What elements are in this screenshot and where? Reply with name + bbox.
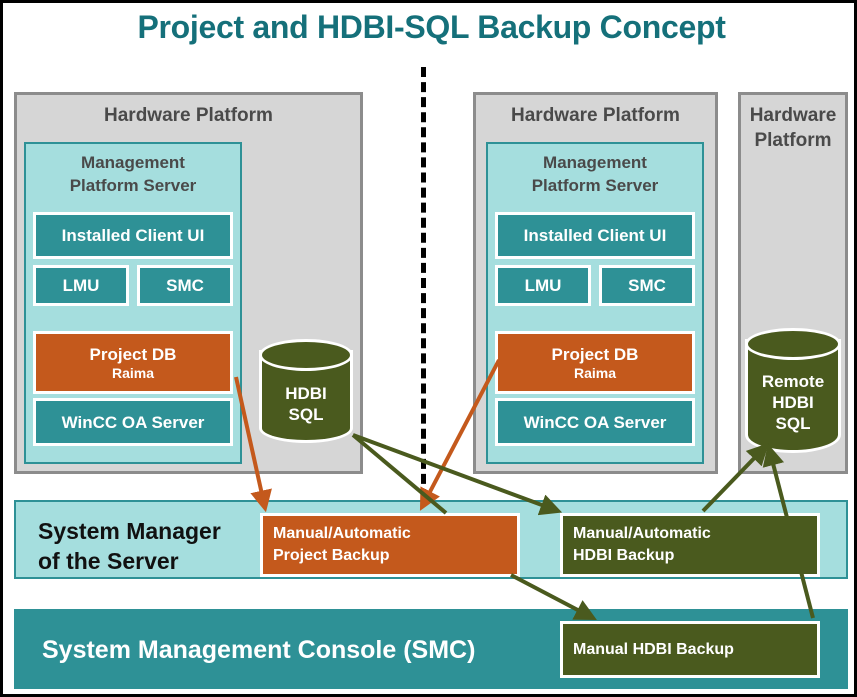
vertical-divider <box>421 67 426 499</box>
hardware-platform-middle-title: Hardware Platform <box>476 103 715 128</box>
system-manager-label: System Manager of the Server <box>38 516 268 576</box>
manual-automatic-hdbi-backup-box[interactable]: Manual/Automatic HDBI Backup <box>560 513 820 577</box>
smc-left[interactable]: SMC <box>137 265 233 306</box>
system-management-console-label: System Management Console (SMC) <box>42 635 475 665</box>
management-platform-server-left-title: Management Platform Server <box>26 151 240 197</box>
manual-automatic-project-backup-box[interactable]: Manual/Automatic Project Backup <box>260 513 520 577</box>
project-db-middle[interactable]: Project DB Raima <box>495 331 695 394</box>
manual-hdbi-backup-box[interactable]: Manual HDBI Backup <box>560 621 820 678</box>
smc-middle[interactable]: SMC <box>599 265 695 306</box>
wincc-oa-server-left[interactable]: WinCC OA Server <box>33 398 233 446</box>
cylinder-top <box>259 339 353 371</box>
hardware-platform-right-title: Hardware Platform <box>741 103 845 153</box>
hdbi-sql-database-left[interactable]: HDBI SQL <box>259 339 353 443</box>
remote-hdbi-sql-database[interactable]: Remote HDBI SQL <box>745 328 841 453</box>
hardware-platform-left-title: Hardware Platform <box>17 103 360 128</box>
management-platform-server-middle-title: Management Platform Server <box>488 151 702 197</box>
installed-client-ui-left[interactable]: Installed Client UI <box>33 212 233 259</box>
lmu-left[interactable]: LMU <box>33 265 129 306</box>
wincc-oa-server-middle[interactable]: WinCC OA Server <box>495 398 695 446</box>
installed-client-ui-middle[interactable]: Installed Client UI <box>495 212 695 259</box>
project-db-left[interactable]: Project DB Raima <box>33 331 233 394</box>
diagram-canvas: Project and HDBI-SQL Backup Concept Hard… <box>0 0 857 697</box>
cylinder-top <box>745 328 841 360</box>
lmu-middle[interactable]: LMU <box>495 265 591 306</box>
page-title: Project and HDBI-SQL Backup Concept <box>3 7 857 47</box>
